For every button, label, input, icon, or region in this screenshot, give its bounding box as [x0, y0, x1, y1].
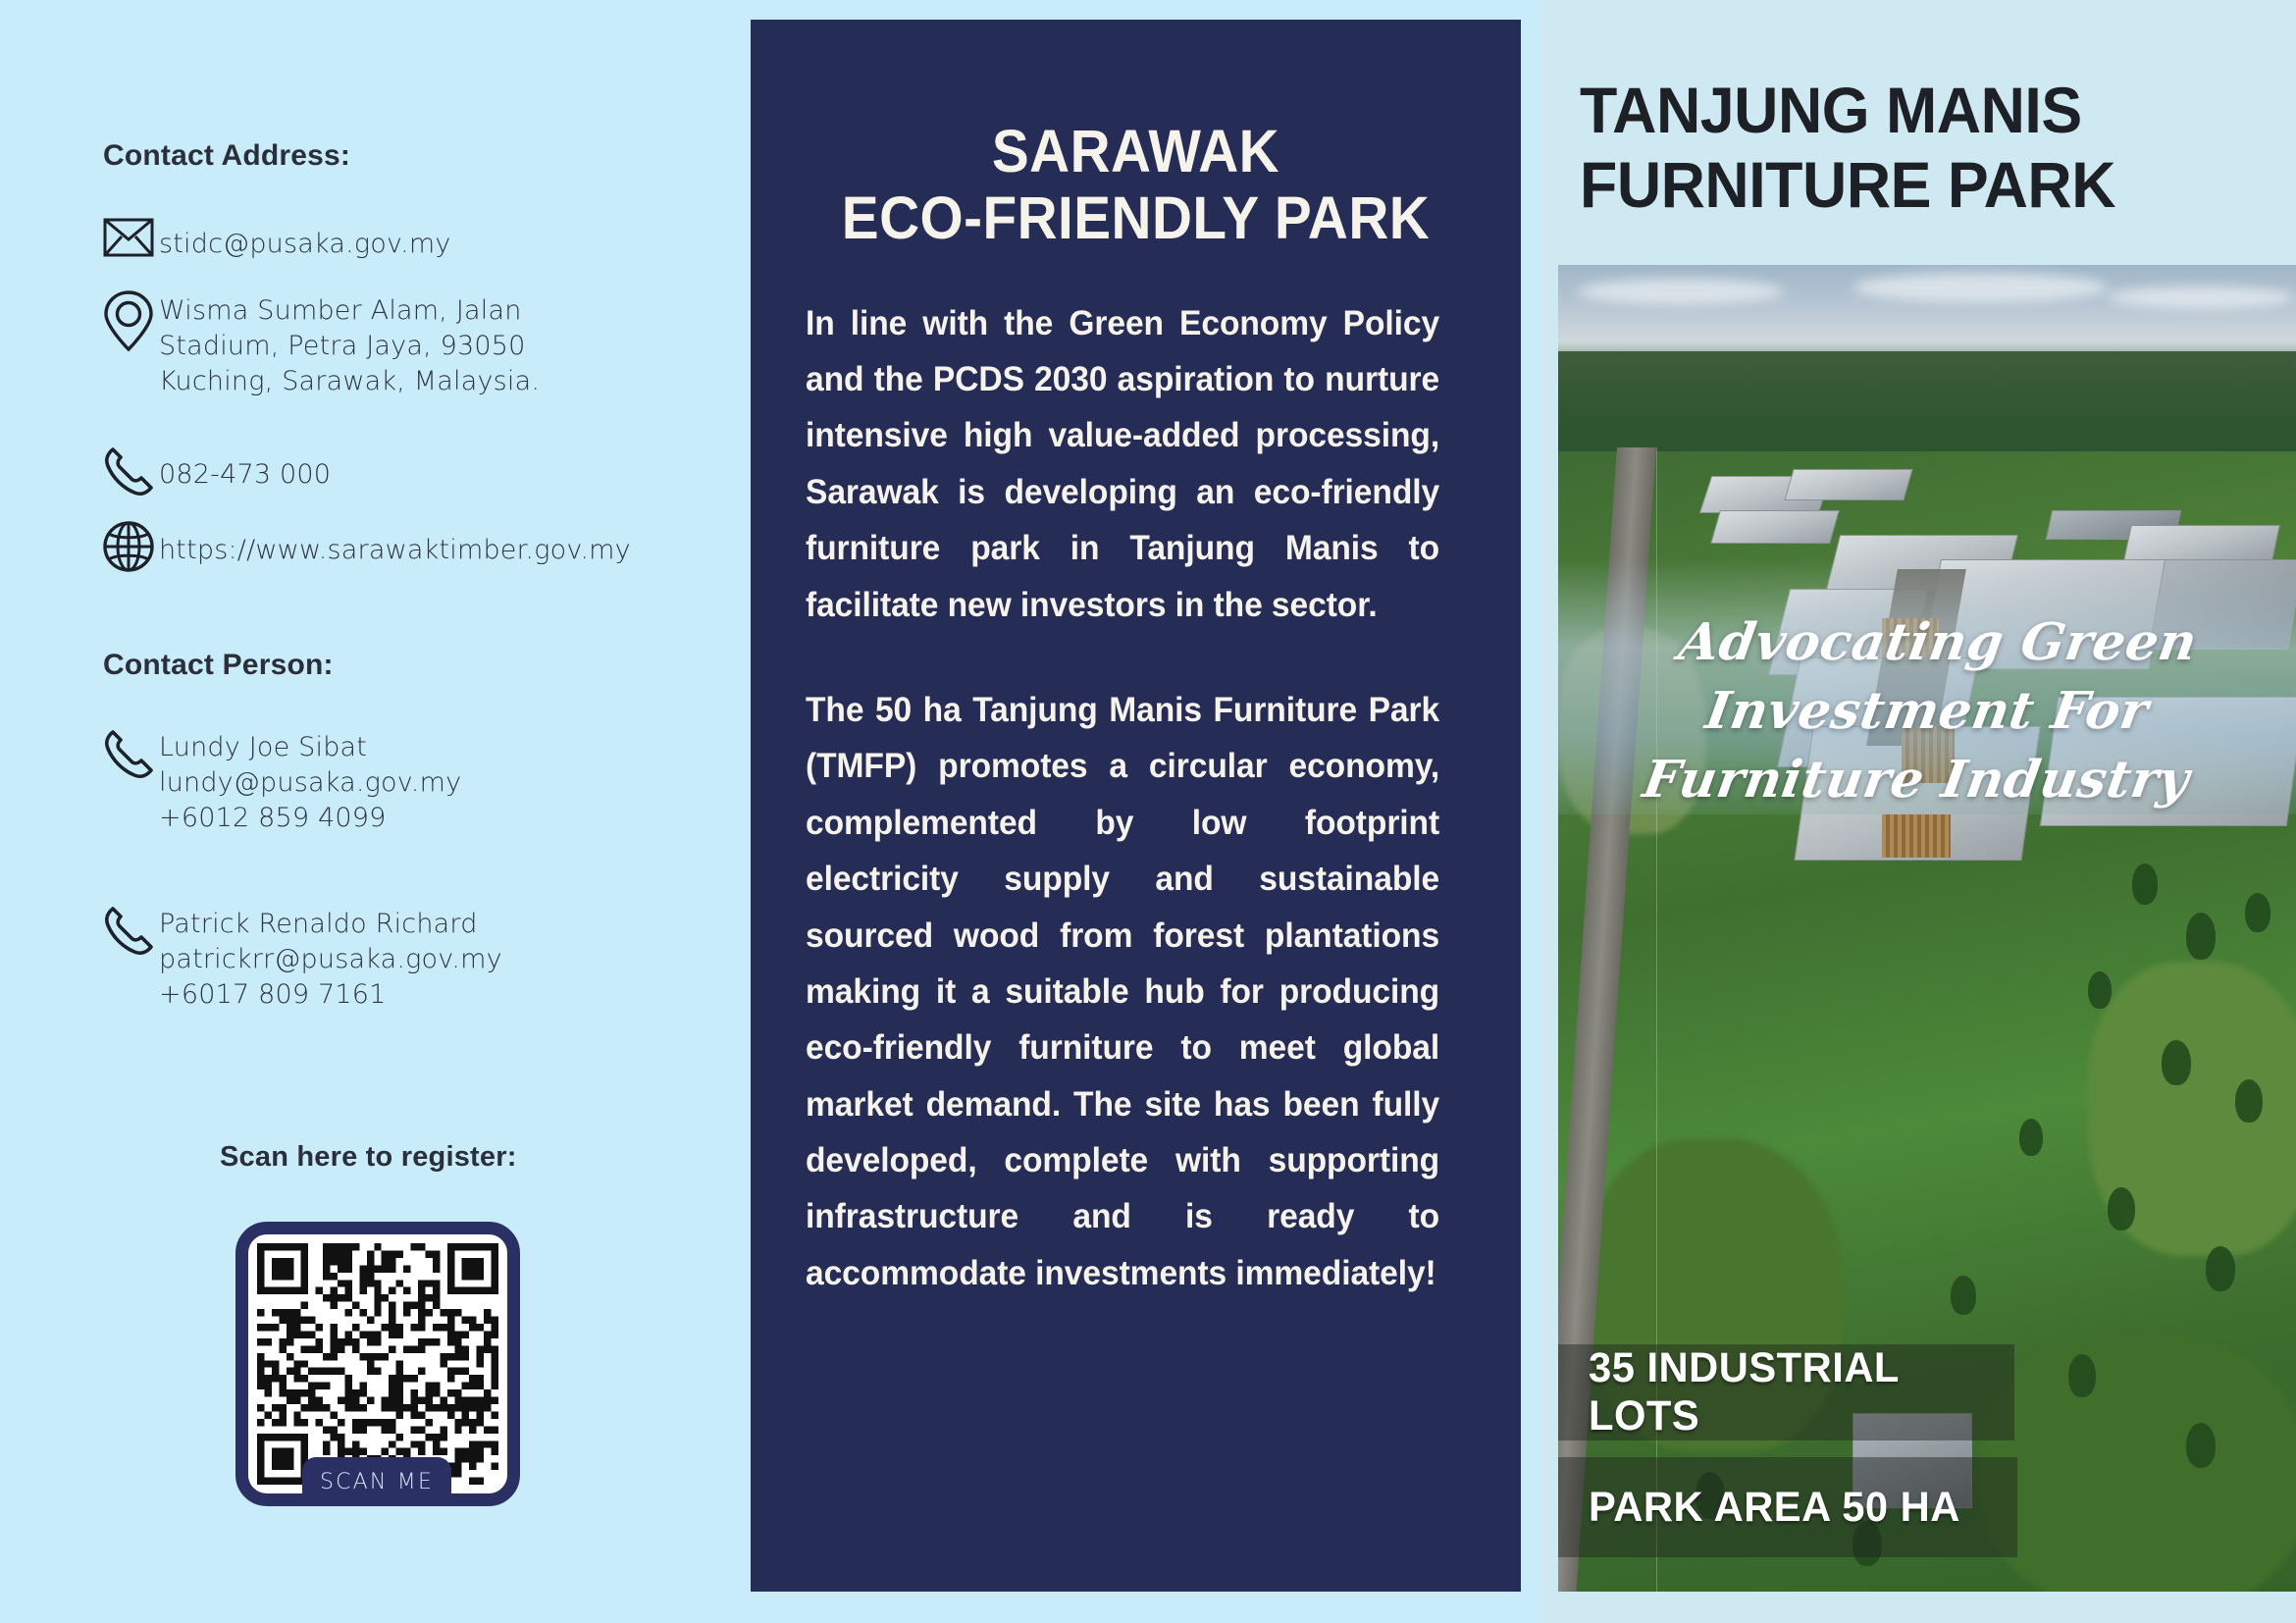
tree [2019, 1119, 2043, 1156]
cloud-shape [1578, 279, 1784, 304]
photo-tagline: Advocating Green Investment For Furnitur… [1558, 608, 2296, 815]
map-pin-icon [98, 289, 159, 352]
furniture-park-panel: TANJUNG MANIS FURNITURE PARK [1540, 0, 2296, 1623]
tagline-line-2: Furniture Industry [1558, 746, 2290, 814]
timber-stack [1882, 814, 1951, 858]
address-line-2: Stadium, Petra Jaya, 93050 [159, 329, 628, 364]
address-value: Wisma Sumber Alam, Jalan Stadium, Petra … [159, 289, 628, 399]
person-2-details: Patrick Renaldo Richard patrickrr@pusaka… [159, 903, 502, 1013]
contact-person-1: Lundy Joe Sibat lundy@pusaka.gov.my +601… [98, 726, 461, 836]
address-line-1: Wisma Sumber Alam, Jalan [159, 293, 628, 329]
person-1-phone[interactable]: +6012 859 4099 [159, 801, 461, 836]
intro-paragraph: In line with the Green Economy Policy an… [806, 295, 1439, 633]
tree [2245, 893, 2270, 932]
qr-code[interactable]: SCAN ME [235, 1222, 520, 1506]
phone-icon [98, 726, 159, 779]
person-1-details: Lundy Joe Sibat lundy@pusaka.gov.my +601… [159, 726, 461, 836]
scan-me-badge: SCAN ME [302, 1457, 451, 1506]
warehouse-building [1784, 469, 1912, 500]
phone-value[interactable]: 082-473 000 [159, 444, 331, 493]
contact-row-phone: 082-473 000 [98, 444, 331, 497]
tree [2235, 1079, 2263, 1123]
scan-me-label: SCAN ME [320, 1470, 434, 1494]
details-paragraph: The 50 ha Tanjung Manis Furniture Park (… [806, 682, 1439, 1301]
tree [1951, 1276, 1976, 1315]
email-value[interactable]: stidc@pusaka.gov.my [159, 218, 451, 262]
park-area-label: PARK AREA 50 HA [1558, 1484, 1960, 1532]
phone-icon [98, 444, 159, 497]
person-1-name: Lundy Joe Sibat [159, 730, 461, 765]
industrial-lots-label: 35 INDUSTRIAL LOTS [1558, 1344, 2001, 1440]
person-1-email[interactable]: lundy@pusaka.gov.my [159, 765, 461, 801]
tree [2186, 1423, 2216, 1468]
cloud-shape [2108, 287, 2294, 308]
warehouse-building [2123, 525, 2280, 560]
right-panel-title: TANJUNG MANIS FURNITURE PARK [1580, 74, 2232, 223]
center-title-line-2: ECO-FRIENDLY PARK [798, 184, 1474, 251]
contact-person-heading: Contact Person: [103, 649, 334, 682]
contact-row-email: stidc@pusaka.gov.my [98, 218, 451, 262]
tree [2068, 1354, 2096, 1397]
contact-address-heading: Contact Address: [103, 139, 350, 173]
contact-panel: Contact Address: stidc@pusaka.gov.my Wis… [0, 0, 751, 1623]
person-2-phone[interactable]: +6017 809 7161 [159, 977, 502, 1013]
contact-row-website: https://www.sarawaktimber.gov.my [98, 520, 631, 573]
right-title-line-2: FURNITURE PARK [1580, 148, 2232, 223]
contact-row-address: Wisma Sumber Alam, Jalan Stadium, Petra … [98, 289, 628, 399]
warehouse-building [1710, 510, 1840, 544]
tree [2108, 1187, 2135, 1230]
tree [2088, 971, 2112, 1009]
phone-icon [98, 903, 159, 956]
aerial-photo: Advocating Green Investment For Furnitur… [1558, 265, 2296, 1592]
center-panel-title: SARAWAK ECO-FRIENDLY PARK [777, 20, 1493, 252]
tree [2162, 1040, 2191, 1085]
address-line-3: Kuching, Sarawak, Malaysia. [159, 364, 628, 399]
scan-to-register-heading: Scan here to register: [220, 1141, 517, 1174]
tree [2206, 1246, 2235, 1291]
eco-park-panel: SARAWAK ECO-FRIENDLY PARK In line with t… [751, 20, 1521, 1592]
globe-icon [98, 520, 159, 573]
contact-person-2: Patrick Renaldo Richard patrickrr@pusaka… [98, 903, 502, 1013]
tree [2132, 864, 2158, 905]
center-title-line-1: SARAWAK [992, 118, 1279, 184]
tree [2186, 913, 2216, 960]
cloud-shape [1852, 273, 2108, 302]
park-area-badge: PARK AREA 50 HA [1558, 1457, 2017, 1557]
website-value[interactable]: https://www.sarawaktimber.gov.my [159, 520, 631, 568]
person-2-name: Patrick Renaldo Richard [159, 907, 502, 942]
envelope-icon [98, 218, 159, 257]
tagline-line-1: Advocating Green Investment For [1675, 612, 2201, 741]
field-patch [1980, 1335, 2296, 1592]
qr-code-image [257, 1243, 498, 1485]
right-title-line-1: TANJUNG MANIS [1580, 74, 2082, 146]
person-2-email[interactable]: patrickrr@pusaka.gov.my [159, 942, 502, 977]
industrial-lots-badge: 35 INDUSTRIAL LOTS [1558, 1344, 2014, 1440]
